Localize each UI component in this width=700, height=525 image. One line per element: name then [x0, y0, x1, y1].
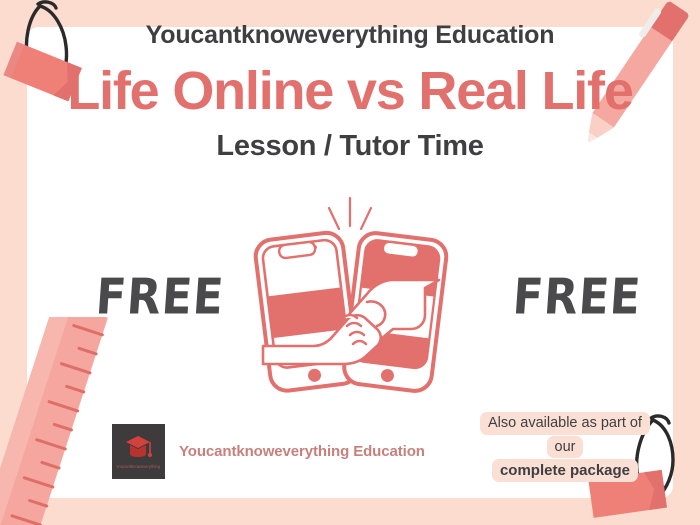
svg-text:Youcantknoweverything: Youcantknoweverything: [116, 464, 161, 469]
two-phones-handshake-illustration: [243, 196, 458, 396]
page-subtitle: Lesson / Tutor Time: [0, 130, 700, 163]
poster-canvas: Youcantknoweverything Education Life Onl…: [0, 0, 700, 525]
impact-lines-icon: [329, 198, 371, 229]
page-title: Life Online vs Real Life: [0, 60, 700, 122]
promo-line-1: Also available as part of: [480, 412, 650, 435]
free-badge-right: FREE: [511, 269, 643, 326]
promo-line-2: our: [547, 436, 584, 459]
free-badge-left: FREE: [94, 269, 226, 326]
brand-top-title: Youcantknoweverything Education: [0, 21, 700, 50]
graduation-cap-icon: Youcantknoweverything: [112, 424, 165, 479]
brand-logo-mark: Youcantknoweverything: [112, 424, 165, 479]
promo-badge: Also available as part of our complete p…: [468, 412, 662, 482]
footer-logo-caption: Youcantknoweverything Education: [179, 443, 425, 460]
ruler-bottom-left-icon: [0, 317, 130, 525]
promo-line-3: complete package: [492, 459, 638, 482]
footer-logo-row: Youcantknoweverything Youcantknoweveryth…: [112, 424, 425, 479]
